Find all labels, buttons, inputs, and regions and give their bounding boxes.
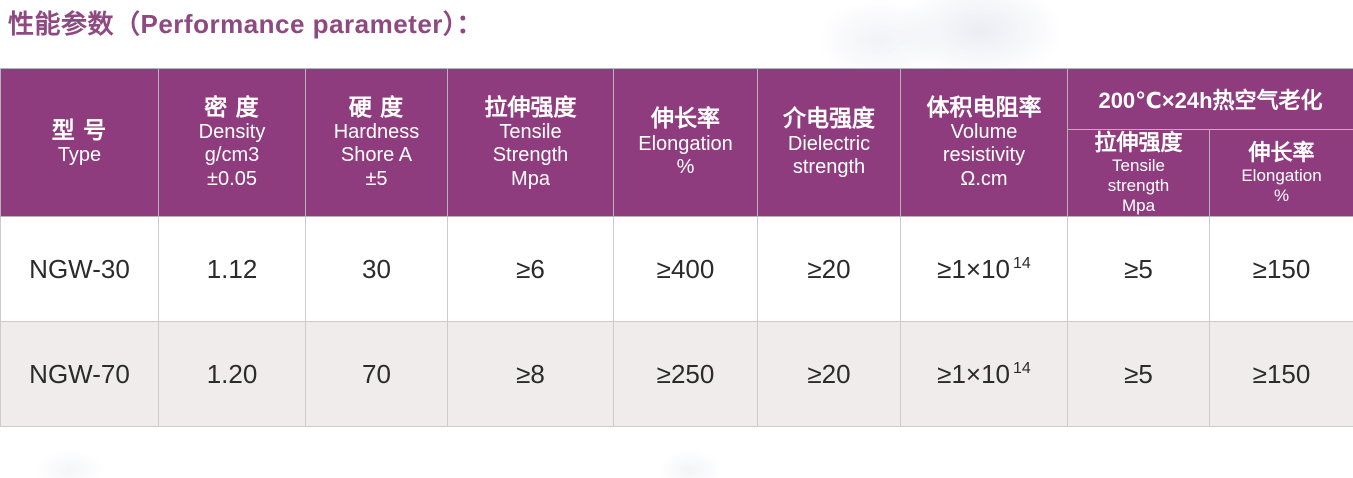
header-aging-tensile-strength-en-2: strength [1068, 176, 1209, 196]
table-row: NGW-30 1.12 30 ≥6 ≥400 ≥20 ≥1×1014 ≥5 ≥1… [1, 217, 1353, 322]
header-aging-elongation: 伸长率 Elongation % [1210, 130, 1353, 217]
header-tensile-strength-en-2: Strength [448, 144, 613, 168]
header-density-cn: 密 度 [159, 94, 305, 121]
header-type: 型 号 Type [1, 69, 159, 217]
header-tensile-strength-cn: 拉伸强度 [448, 94, 613, 121]
cell-volume-resistivity: ≥1×1014 [901, 217, 1068, 322]
header-aging-elongation-en-2: % [1210, 186, 1353, 206]
header-tensile-strength-en-1: Tensile [448, 121, 613, 145]
cell-aging-tensile-strength: ≥5 [1068, 217, 1210, 322]
header-dielectric-strength-en-2: strength [758, 156, 900, 180]
cell-hardness: 30 [306, 217, 448, 322]
performance-parameter-page: 性能参数（Performance parameter）： 型 号 Type 密 [0, 0, 1353, 478]
cell-elongation: ≥400 [614, 217, 758, 322]
header-density-en-1: Density [159, 121, 305, 145]
cell-aging-elongation: ≥150 [1210, 217, 1353, 322]
header-density-en-2: g/cm3 [159, 144, 305, 168]
header-tensile-strength: 拉伸强度 Tensile Strength Mpa [448, 69, 614, 217]
page-title: 性能参数（Performance parameter）： [8, 4, 483, 41]
cell-dielectric-strength: ≥20 [758, 322, 901, 427]
cell-volume-resistivity-exponent: 14 [1013, 360, 1031, 377]
header-hardness: 硬 度 Hardness Shore A ±5 [306, 69, 448, 217]
table-header: 型 号 Type 密 度 Density g/cm3 ±0.05 硬 度 Har… [1, 69, 1353, 217]
cell-dielectric-strength: ≥20 [758, 217, 901, 322]
cell-density: 1.20 [159, 322, 306, 427]
cell-hardness: 70 [306, 322, 448, 427]
header-row-top: 型 号 Type 密 度 Density g/cm3 ±0.05 硬 度 Har… [1, 69, 1353, 130]
cell-tensile-strength: ≥8 [448, 322, 614, 427]
cell-volume-resistivity-base: ≥1×10 [937, 359, 1010, 389]
cell-type: NGW-30 [1, 217, 159, 322]
header-volume-resistivity-en-3: Ω.cm [901, 168, 1067, 192]
header-aging-tensile-strength-en-3: Mpa [1068, 196, 1209, 216]
header-volume-resistivity-en-1: Volume [901, 121, 1067, 145]
cell-volume-resistivity-exponent: 14 [1013, 255, 1031, 272]
header-elongation-cn: 伸长率 [614, 105, 757, 132]
cell-tensile-strength: ≥6 [448, 217, 614, 322]
header-dielectric-strength-en-1: Dielectric [758, 133, 900, 157]
cell-density: 1.12 [159, 217, 306, 322]
cell-elongation: ≥250 [614, 322, 758, 427]
performance-parameter-table: 型 号 Type 密 度 Density g/cm3 ±0.05 硬 度 Har… [0, 68, 1353, 427]
header-density: 密 度 Density g/cm3 ±0.05 [159, 69, 306, 217]
header-heat-aging-group: 200℃×24h热空气老化 [1068, 69, 1353, 130]
header-volume-resistivity-cn: 体积电阻率 [901, 94, 1067, 121]
cell-aging-elongation: ≥150 [1210, 322, 1353, 427]
cell-volume-resistivity-base: ≥1×10 [937, 254, 1010, 284]
table-row: NGW-70 1.20 70 ≥8 ≥250 ≥20 ≥1×1014 ≥5 ≥1… [1, 322, 1353, 427]
header-type-en: Type [1, 144, 158, 168]
cell-aging-tensile-strength: ≥5 [1068, 322, 1210, 427]
header-elongation-en-1: Elongation [614, 133, 757, 157]
header-hardness-en-1: Hardness [306, 121, 447, 145]
header-dielectric-strength-cn: 介电强度 [758, 105, 900, 132]
header-hardness-en-3: ±5 [306, 168, 447, 192]
header-hardness-en-2: Shore A [306, 144, 447, 168]
cell-type: NGW-70 [1, 322, 159, 427]
cell-volume-resistivity: ≥1×1014 [901, 322, 1068, 427]
header-volume-resistivity: 体积电阻率 Volume resistivity Ω.cm [901, 69, 1068, 217]
header-type-cn: 型 号 [1, 117, 158, 144]
table-body: NGW-30 1.12 30 ≥6 ≥400 ≥20 ≥1×1014 ≥5 ≥1… [1, 217, 1353, 427]
header-tensile-strength-en-3: Mpa [448, 168, 613, 192]
header-aging-elongation-cn: 伸长率 [1210, 140, 1353, 166]
header-aging-elongation-en-1: Elongation [1210, 166, 1353, 186]
header-hardness-cn: 硬 度 [306, 94, 447, 121]
header-density-en-3: ±0.05 [159, 168, 305, 192]
header-dielectric-strength: 介电强度 Dielectric strength [758, 69, 901, 217]
header-volume-resistivity-en-2: resistivity [901, 144, 1067, 168]
header-elongation-en-2: % [614, 156, 757, 180]
header-elongation: 伸长率 Elongation % [614, 69, 758, 217]
header-aging-tensile-strength-en-1: Tensile [1068, 156, 1209, 176]
header-aging-tensile-strength: 拉伸强度 Tensile strength Mpa [1068, 130, 1210, 217]
header-aging-tensile-strength-cn: 拉伸强度 [1068, 130, 1209, 156]
